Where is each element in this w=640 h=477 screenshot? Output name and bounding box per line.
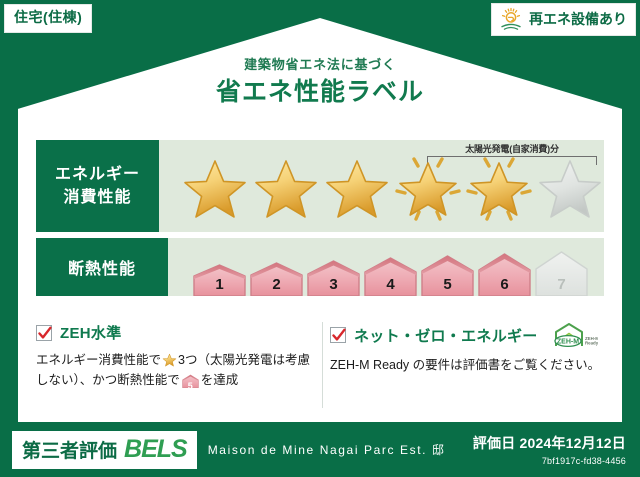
svg-text:Ready: Ready xyxy=(585,340,598,345)
renewable-badge-label: 再エネ設備あり xyxy=(529,12,627,26)
insulation-grade-3: 3 xyxy=(306,258,361,296)
evaluation-date: 評価日 2024年12月12日 xyxy=(473,433,626,453)
zeh-m-ready-logo-icon: ZEH-M ZEH-M Ready xyxy=(552,322,598,348)
title-main: 省エネ性能ラベル xyxy=(0,79,640,107)
insulation-grade-7-number: 7 xyxy=(534,276,589,293)
net-zero-energy-header: ネット・ゼロ・エネルギー ZEH-M ZEH-M Ready xyxy=(330,322,604,348)
evaluation-id: 7bf1917c-fd38-4456 xyxy=(473,456,626,466)
check-icon xyxy=(38,326,52,341)
bels-badge-jp-label: 第三者評価 xyxy=(22,436,117,463)
evaluation-date-label: 評価日 xyxy=(473,435,516,451)
insulation-grade-2: 2 xyxy=(249,260,304,296)
svg-text:ZEH-M: ZEH-M xyxy=(557,338,579,345)
bels-badge-en-label: BELS xyxy=(124,435,187,464)
star-3-filled xyxy=(323,151,391,221)
energy-star-rating xyxy=(159,140,604,232)
net-zero-energy-checkbox xyxy=(330,327,346,343)
star-4-solar xyxy=(394,151,462,221)
insulation-grade-6-number: 6 xyxy=(477,276,532,293)
title-subtitle: 建築物省エネ法に基づく xyxy=(0,58,640,72)
zeh-standard-checkbox xyxy=(36,325,52,341)
check-icon xyxy=(332,328,346,343)
page-title: 建築物省エネ法に基づく 省エネ性能ラベル xyxy=(0,58,640,107)
zeh-standard-criterion: ZEH水準 エネルギー消費性能で3つ（太陽光発電は考慮しない）、かつ断熱性能で5… xyxy=(36,322,320,394)
net-zero-energy-title: ネット・ゼロ・エネルギー xyxy=(354,325,538,346)
evaluation-info: 評価日 2024年12月12日 7bf1917c-fd38-4456 xyxy=(473,433,626,466)
inline-grade-badge: 5 xyxy=(182,374,199,394)
insulation-performance-row: 断熱性能 xyxy=(36,238,604,296)
sun-icon xyxy=(498,7,524,31)
zeh-standard-description: エネルギー消費性能で3つ（太陽光発電は考慮しない）、かつ断熱性能で5を達成 xyxy=(36,350,320,394)
building-type-badge: 住宅(住棟) xyxy=(4,4,92,33)
label-footer: 第三者評価 BELS Maison de Mine Nagai Parc Est… xyxy=(0,422,640,477)
insulation-grade-1-number: 1 xyxy=(192,276,247,293)
bels-badge: 第三者評価 BELS xyxy=(12,431,197,469)
insulation-grade-3-number: 3 xyxy=(306,276,361,293)
energy-performance-label: 住宅(住棟) 再エネ設備あり 建築物省エネ法に基づく 省エネ性能ラベル xyxy=(0,0,640,477)
insulation-grade-5: 5 xyxy=(420,253,475,296)
evaluation-date-value: 2024年12月12日 xyxy=(520,435,627,451)
insulation-grade-7: 7 xyxy=(534,249,589,296)
star-1-filled xyxy=(181,151,249,221)
energy-label-line1: エネルギー xyxy=(55,163,140,186)
energy-performance-row-label: エネルギー 消費性能 xyxy=(36,140,159,232)
insulation-grade-5-number: 5 xyxy=(420,276,475,293)
inline-grade-badge-number: 5 xyxy=(182,379,199,393)
zeh-standard-header: ZEH水準 xyxy=(36,322,320,343)
zeh-desc-part3: を達成 xyxy=(201,373,239,387)
insulation-grade-4: 4 xyxy=(363,255,418,296)
insulation-grade-4-number: 4 xyxy=(363,276,418,293)
star-2-filled xyxy=(252,151,320,221)
zeh-standard-title: ZEH水準 xyxy=(60,322,122,343)
criteria-divider xyxy=(322,322,323,408)
energy-label-line2: 消費性能 xyxy=(55,186,140,209)
renewable-equipment-badge: 再エネ設備あり xyxy=(491,3,636,36)
building-name: Maison de Mine Nagai Parc Est. 邸 xyxy=(208,441,446,458)
insulation-grade-6: 6 xyxy=(477,251,532,296)
insulation-grade-scale: 1 2 3 xyxy=(168,238,604,296)
insulation-performance-row-body: 1 2 3 xyxy=(168,238,604,296)
insulation-grade-2-number: 2 xyxy=(249,276,304,293)
star-6-empty xyxy=(536,151,604,221)
zeh-desc-star-count: 3つ xyxy=(178,353,197,367)
net-zero-energy-description: ZEH-M Ready の要件は評価書をご覧ください。 xyxy=(330,355,604,375)
energy-performance-row-body: 太陽光発電(自家消費)分 xyxy=(159,140,604,232)
inline-star-icon xyxy=(162,352,177,367)
star-5-solar xyxy=(465,151,533,221)
zeh-desc-part1: エネルギー消費性能で xyxy=(36,353,161,367)
insulation-grade-1: 1 xyxy=(192,262,247,296)
net-zero-energy-criterion: ネット・ゼロ・エネルギー ZEH-M ZEH-M Ready ZEH-M Rea… xyxy=(330,322,604,375)
insulation-performance-row-label: 断熱性能 xyxy=(36,238,168,296)
building-type-badge-label: 住宅(住棟) xyxy=(14,9,82,25)
energy-performance-row: エネルギー 消費性能 太陽光発電(自家消費)分 xyxy=(36,140,604,232)
